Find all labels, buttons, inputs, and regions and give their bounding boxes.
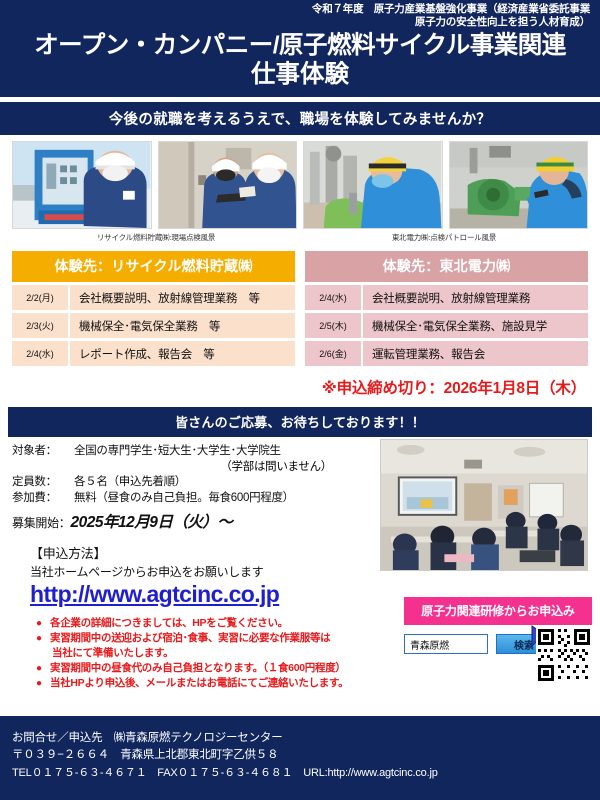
- cell-date: 2/2(月): [12, 285, 68, 310]
- search-qr-block: 原子力関連研修からお申込み 青森原燃 検索: [404, 597, 592, 654]
- search-input[interactable]: 青森原燃: [404, 634, 488, 654]
- table-row: 2/3(火) 機械保全･電気保全業務 等: [12, 313, 295, 338]
- info-value-fee: 無料（昼食のみ自己負担。毎食600円程度）: [74, 491, 380, 507]
- cell-desc: 機械保全･電気保全業務 等: [68, 313, 295, 338]
- page-title-line1: オープン・カンパニー/原子燃料サイクル事業関連: [10, 32, 590, 60]
- company-website-link[interactable]: http://www.agtcinc.co.jp: [30, 581, 279, 608]
- application-deadline: ※申込締め切り：2026年1月8日（木）: [0, 366, 600, 398]
- info-row-fee: 参加費： 無料（昼食のみ自己負担。毎食600円程度）: [12, 491, 380, 507]
- cell-desc: 会社概要説明、放射線管理業務 等: [68, 285, 295, 310]
- subtitle-banner: 今後の就職を考えるうえで、職場を体験してみませんか？: [0, 100, 600, 135]
- bullet-dot-icon: ●: [36, 631, 50, 661]
- schedule-tables: 体験先：リサイクル燃料貯蔵㈱ 2/2(月) 会社概要説明、放射線管理業務 等 2…: [0, 243, 600, 366]
- cell-date: 2/3(火): [12, 313, 68, 338]
- photo-inspection-panel: [12, 141, 152, 229]
- header-program-note: 令和７年度 原子力産業基盤強化事業（経済産業省委託事業 原子力の安全性向上を担う…: [10, 3, 590, 30]
- photo-patrol-valve: [303, 141, 443, 229]
- info-value-target: 全国の専門学生･短大生･大学生･大学院生: [74, 444, 380, 460]
- page-title-line2: 仕事体験: [10, 60, 590, 89]
- qr-code-icon: [536, 627, 592, 683]
- info-row-capacity: 定員数： 各５名（申込先着順）: [12, 475, 380, 491]
- info-label-fee: 参加費：: [12, 491, 74, 507]
- cell-desc: レポート作成、報告会 等: [68, 341, 295, 366]
- apply-banner: 皆さんのご応募、お待ちしております！！: [8, 407, 592, 437]
- photo-captions: リサイクル燃料貯蔵㈱:現場点検風景 東北電力㈱:点検パトロール風景: [0, 229, 600, 243]
- info-details: 対象者： 全国の専門学生･短大生･大学生･大学院生 （学部は問いません） 定員数…: [12, 444, 380, 531]
- cell-desc: 会社概要説明、放射線管理業務: [361, 285, 588, 310]
- recruit-start-label: 募集開始：: [12, 516, 71, 530]
- bullet-dot-icon: ●: [36, 616, 50, 631]
- table-row: 2/6(金) 運転管理業務、報告会: [305, 341, 588, 366]
- footer-tel-fax-url: TEL０１７５-６３-４６７１ FAX０１７５-６３-４６８１ URL:http…: [12, 765, 600, 782]
- footer-contact: お問合せ／申込先 ㈱青森原燃テクノロジーセンター: [12, 730, 600, 747]
- caption-right: 東北電力㈱:点検パトロール風景: [300, 232, 588, 243]
- poster-root: 令和７年度 原子力産業基盤強化事業（経済産業省委託事業 原子力の安全性向上を担う…: [0, 0, 600, 800]
- cell-desc: 運転管理業務、報告会: [361, 341, 588, 366]
- header-note-line1: 令和７年度 原子力産業基盤強化事業（経済産業省委託事業: [10, 3, 590, 16]
- info-label-target: 対象者：: [12, 444, 74, 460]
- schedule-table-rfs: 体験先：リサイクル燃料貯蔵㈱ 2/2(月) 会社概要説明、放射線管理業務 等 2…: [12, 251, 295, 366]
- schedule-header-rfs: 体験先：リサイクル燃料貯蔵㈱: [12, 251, 295, 282]
- table-row: 2/4(水) 会社概要説明、放射線管理業務: [305, 285, 588, 310]
- table-row: 2/2(月) 会社概要説明、放射線管理業務 等: [12, 285, 295, 310]
- poster-footer: お問合せ／申込先 ㈱青森原燃テクノロジーセンター 〒０３９−２６６４ 青森県上北…: [0, 716, 600, 800]
- list-item-text: 当社HPより申込後、メールまたはお電話にてご連絡いたします。: [50, 676, 588, 691]
- info-row-target: 対象者： 全国の専門学生･短大生･大学生･大学院生: [12, 444, 380, 460]
- schedule-header-tohoku: 体験先：東北電力㈱: [305, 251, 588, 282]
- recruit-start-line: 募集開始：2025年12月9日（火）〜: [12, 510, 380, 532]
- info-target-note: （学部は問いません）: [12, 460, 380, 476]
- table-row: 2/4(水) レポート作成、報告会 等: [12, 341, 295, 366]
- poster-header: 令和７年度 原子力産業基盤強化事業（経済産業省委託事業 原子力の安全性向上を担う…: [0, 0, 600, 97]
- list-item: ● 実習期間中の昼食代のみ自己負担となります。（１食600円程度）: [36, 661, 588, 676]
- photo-gallery: [0, 135, 600, 229]
- schedule-table-tohoku: 体験先：東北電力㈱ 2/4(水) 会社概要説明、放射線管理業務 2/5(木) 機…: [305, 251, 588, 366]
- list-item-line1: 実習期間中の送迎および宿泊･食事、実習に必要な作業服等は: [50, 632, 330, 644]
- cell-date: 2/5(木): [305, 313, 361, 338]
- caption-left: リサイクル燃料貯蔵㈱:現場点検風景: [12, 232, 300, 243]
- list-item-text: 実習期間中の昼食代のみ自己負担となります。（１食600円程度）: [50, 661, 588, 676]
- info-value-capacity: 各５名（申込先着順）: [74, 475, 380, 491]
- bullet-dot-icon: ●: [36, 661, 50, 676]
- footer-address: 〒０３９−２６６４ 青森県上北郡東北町字乙供５８: [12, 747, 600, 764]
- cell-desc: 機械保全･電気保全業務、施設見学: [361, 313, 588, 338]
- recruit-start-date: 2025年12月9日（火）〜: [71, 514, 233, 531]
- cell-date: 2/4(水): [12, 341, 68, 366]
- header-note-line2: 原子力の安全性向上を担う人材育成）: [10, 16, 590, 29]
- info-label-capacity: 定員数：: [12, 475, 74, 491]
- cell-date: 2/6(金): [305, 341, 361, 366]
- table-row: 2/5(木) 機械保全･電気保全業務、施設見学: [305, 313, 588, 338]
- photo-inspection-indoor: [158, 141, 298, 229]
- training-apply-banner: 原子力関連研修からお申込み: [404, 597, 592, 625]
- photo-patrol-pump: [449, 141, 589, 229]
- bullet-dot-icon: ●: [36, 676, 50, 691]
- photo-seminar-room: [380, 439, 588, 571]
- list-item: ● 当社HPより申込後、メールまたはお電話にてご連絡いたします。: [36, 676, 588, 691]
- cell-date: 2/4(水): [305, 285, 361, 310]
